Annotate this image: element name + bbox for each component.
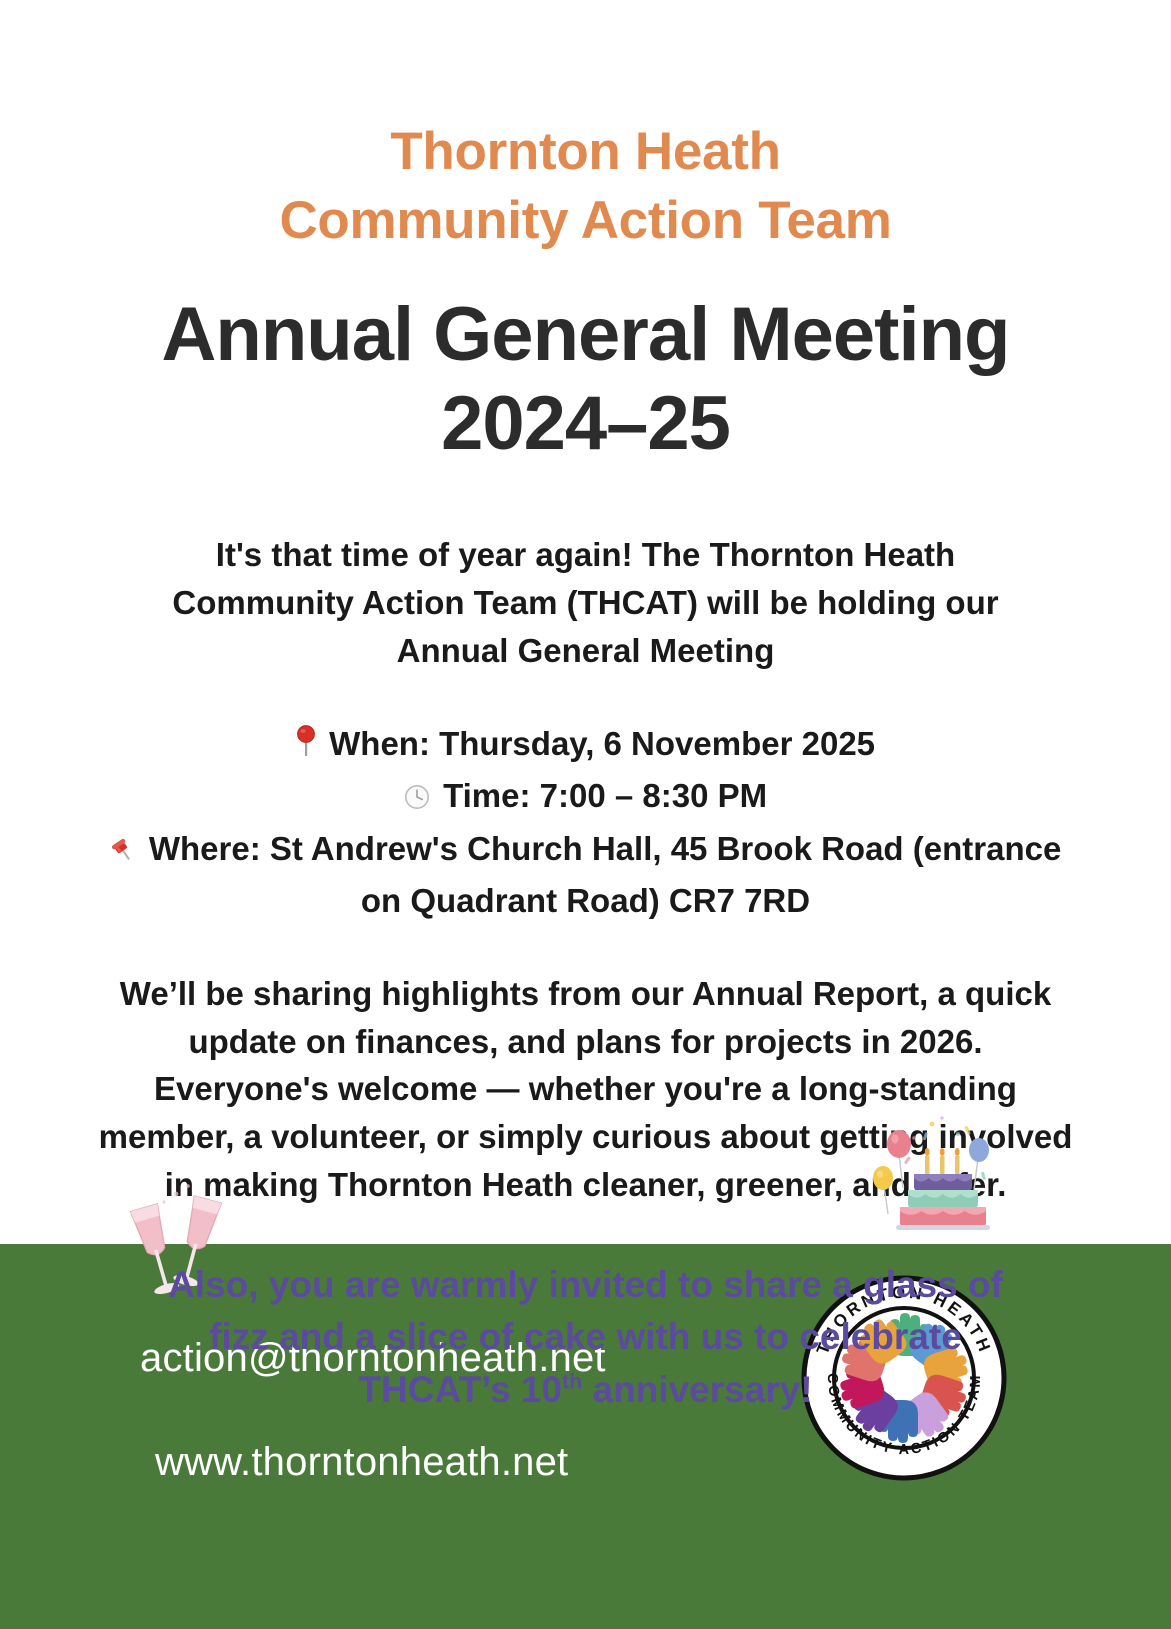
celebration-line3-suffix: anniversary! <box>582 1369 812 1410</box>
clock-icon <box>404 774 430 824</box>
event-detail-time-text: Time: 7:00 – 8:30 PM <box>443 777 767 814</box>
celebration-note: Also, you are warmly invited to share a … <box>96 1209 1075 1417</box>
organisation-name-line2: Community Action Team <box>96 187 1075 256</box>
event-detail-when: When: Thursday, 6 November 2025 <box>96 719 1075 772</box>
poster-root: Thornton Heath Community Action Team Ann… <box>0 0 1171 1629</box>
organisation-name: Thornton Heath Community Action Team <box>96 0 1075 256</box>
contact-website[interactable]: www.thorntonheath.net <box>155 1440 568 1485</box>
poster-content: Thornton Heath Community Action Team Ann… <box>0 0 1171 1244</box>
organisation-name-line1: Thornton Heath <box>96 118 1075 187</box>
celebration-line1: Also, you are warmly invited to share a … <box>96 1259 1075 1312</box>
celebration-line2: fizz and a slice of cake with us to cele… <box>96 1311 1075 1364</box>
celebration-line3: THCAT’s 10th anniversary! <box>96 1364 1075 1417</box>
celebration-line3-prefix: THCAT’s 10 <box>358 1369 562 1410</box>
round-pushpin-icon <box>296 722 316 772</box>
pushpin-icon <box>110 827 136 877</box>
event-detail-when-text: When: Thursday, 6 November 2025 <box>329 725 875 762</box>
event-detail-where: Where: St Andrew's Church Hall, 45 Brook… <box>96 824 1075 926</box>
event-details: When: Thursday, 6 November 2025 Time: 7:… <box>96 675 1075 926</box>
page-title-line2: 2024–25 <box>96 379 1075 469</box>
page-title-line1: Annual General Meeting <box>96 290 1075 380</box>
celebration-ordinal-suffix: th <box>562 1370 582 1394</box>
body-paragraph-1: We’ll be sharing highlights from our Ann… <box>96 970 1075 1066</box>
event-detail-where-text: Where: St Andrew's Church Hall, 45 Brook… <box>149 830 1061 920</box>
page-title: Annual General Meeting 2024–25 <box>96 256 1075 469</box>
event-detail-time: Time: 7:00 – 8:30 PM <box>96 771 1075 824</box>
intro-paragraph: It's that time of year again! The Thornt… <box>96 469 1075 675</box>
